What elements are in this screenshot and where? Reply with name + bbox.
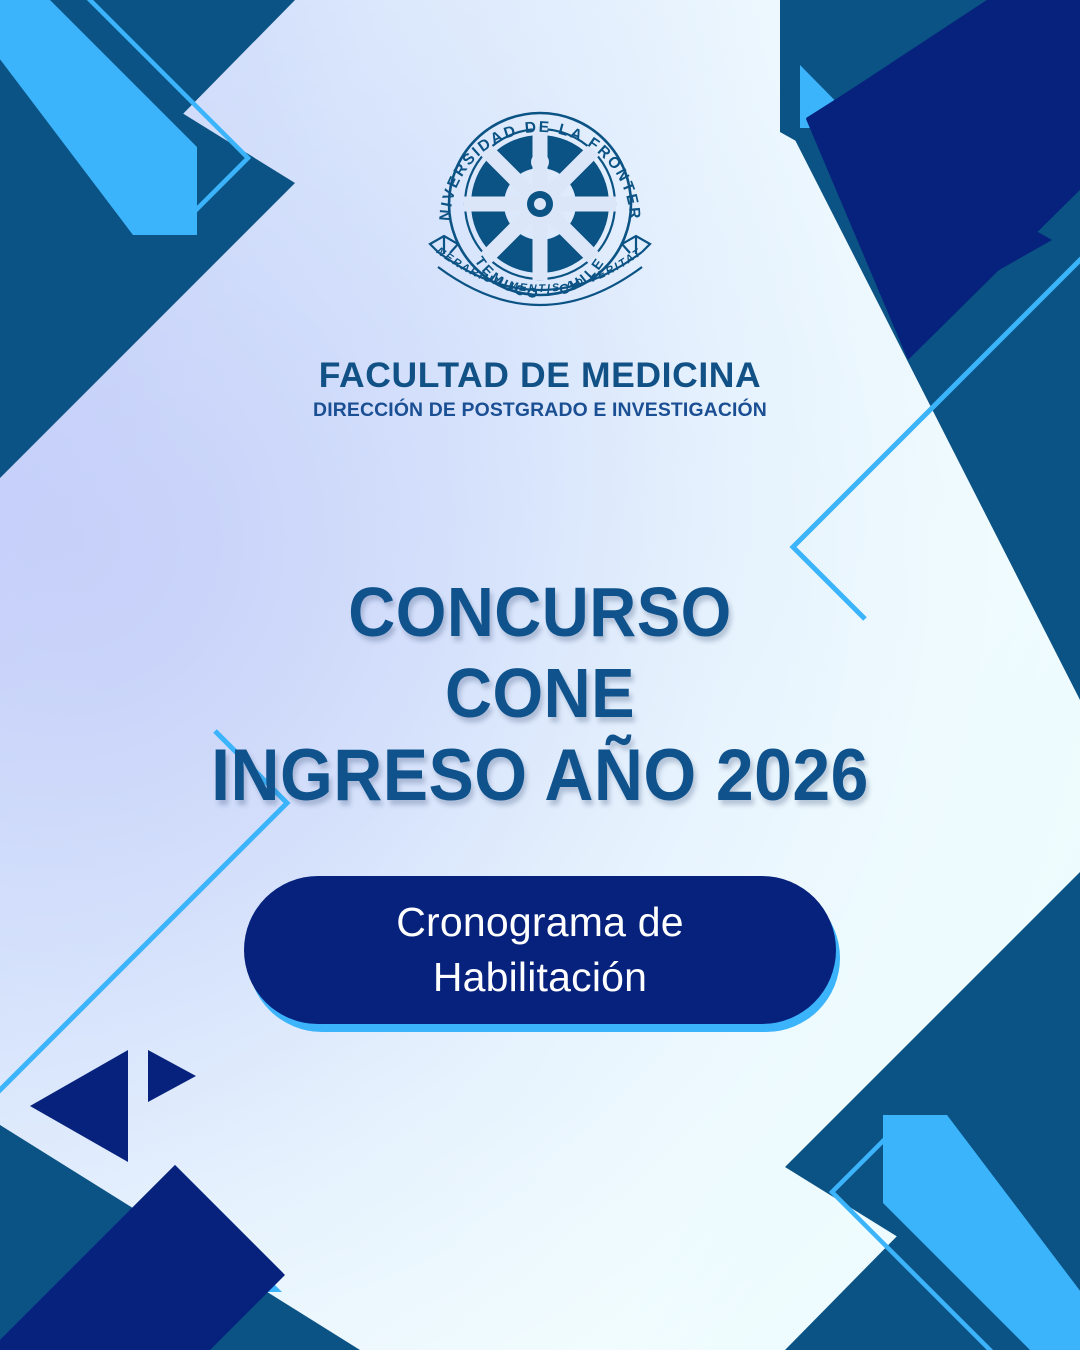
main-title: CONCURSO CONE INGRESO AÑO 2026: [0, 572, 1080, 819]
faculty-name: FACULTAD DE MEDICINA: [319, 358, 762, 394]
cronograma-button-label-line2: Habilitación: [433, 950, 647, 1005]
university-crest-icon: UNIVERSIDAD DE LA FRONTERA TEMUCO · CHIL…: [424, 104, 656, 314]
cronograma-button-label-line1: Cronograma de: [396, 895, 683, 950]
header-block: UNIVERSIDAD DE LA FRONTERA TEMUCO · CHIL…: [0, 104, 1080, 420]
corner-bottom-left-arrow-small: [148, 1050, 196, 1102]
title-line-2: CONE: [38, 653, 1042, 734]
poster-canvas: UNIVERSIDAD DE LA FRONTERA TEMUCO · CHIL…: [0, 0, 1080, 1350]
corner-bottom-left-arrow-large: [30, 1050, 128, 1162]
cta-holder: Cronograma de Habilitación: [244, 876, 836, 1024]
title-line-1: CONCURSO: [38, 572, 1042, 653]
cronograma-button[interactable]: Cronograma de Habilitación: [244, 876, 836, 1024]
department-name: DIRECCIÓN DE POSTGRADO E INVESTIGACIÓN: [313, 401, 767, 420]
corner-bottom-left-group: [0, 1050, 360, 1350]
cta-area: Cronograma de Habilitación: [0, 876, 1080, 1024]
title-line-3: INGRESO AÑO 2026: [38, 734, 1042, 819]
